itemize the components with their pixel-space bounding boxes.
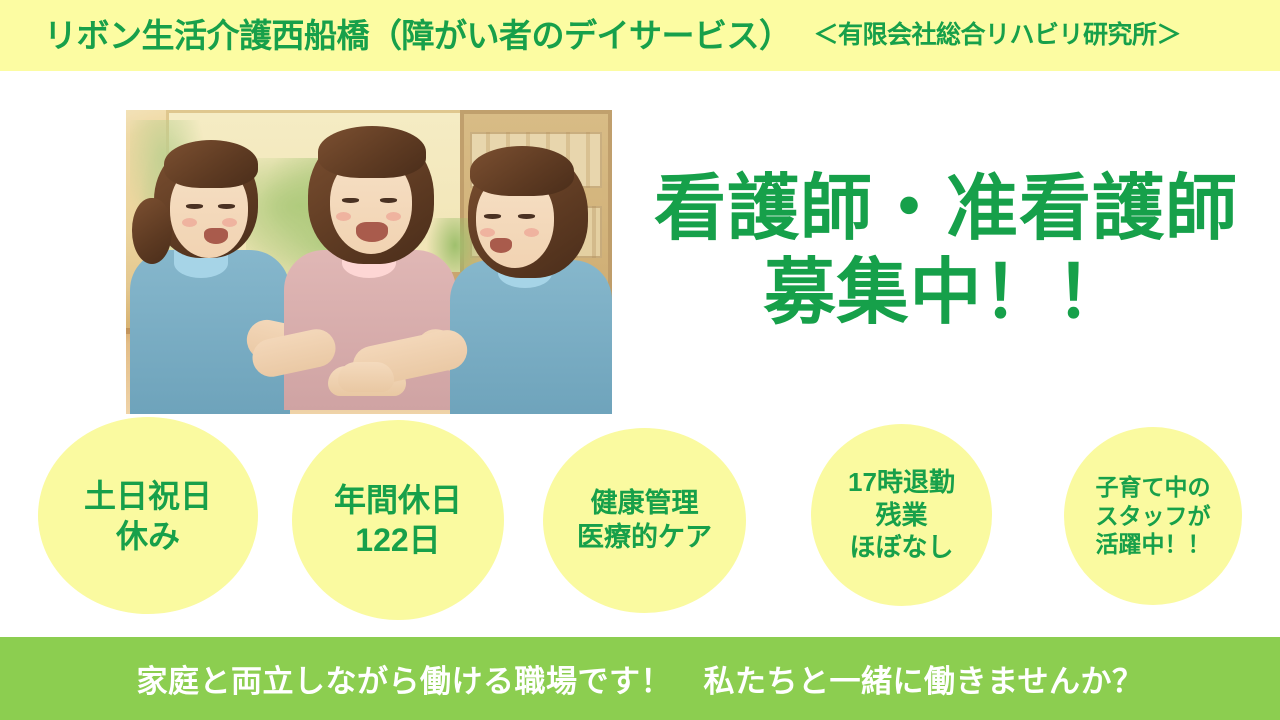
staff-right: [446, 140, 612, 414]
staff-center-cheek-right: [386, 212, 401, 221]
staff-right-hand: [338, 362, 394, 392]
badge-2-line-2: 122日: [334, 520, 462, 560]
badge-5-line-2: スタッフが: [1096, 502, 1211, 531]
badge-4-line-2: 残業: [848, 499, 955, 532]
benefit-badge-overtime[interactable]: 17時退勤 残業 ほぼなし: [811, 424, 992, 606]
staff-left-eye-right: [218, 204, 235, 209]
staff-right-cheek-right: [524, 228, 539, 237]
staff-center-eye-right: [380, 198, 397, 203]
staff-right-cheek-left: [480, 228, 495, 237]
staff-left-mouth: [204, 228, 228, 244]
staff-left-cheek-right: [222, 218, 237, 227]
organization-name: リボン生活介護西船橋（障がい者のデイサービス）: [44, 19, 792, 52]
badge-3-line-2: 医療的ケア: [577, 521, 712, 555]
staff-right-eye-left: [484, 214, 501, 219]
staff-left-ponytail: [132, 198, 172, 264]
badge-1-line-1: 土日祝日: [84, 476, 212, 516]
headline-line-1: 看護師・准看護師: [654, 169, 1238, 249]
header-band: リボン生活介護西船橋（障がい者のデイサービス） ＜有限会社総合リハビリ研究所＞: [0, 0, 1280, 71]
page-title: 看護師・准看護師 募集中！！: [630, 168, 1262, 335]
footer-band: 家庭と両立しながら働ける職場です！ 私たちと一緒に働きませんか？: [0, 637, 1280, 720]
benefit-badge-childcare[interactable]: 子育て中の スタッフが 活躍中！！: [1064, 427, 1242, 605]
staff-photo: [126, 110, 612, 414]
badge-4-line-3: ほぼなし: [848, 531, 955, 564]
headline-line-2: 募集中！！: [630, 252, 1262, 336]
staff-right-fringe: [470, 146, 574, 196]
staff-left-cheek-left: [182, 218, 197, 227]
benefit-badge-health-care[interactable]: 健康管理 医療的ケア: [543, 428, 746, 613]
staff-center-fringe: [318, 126, 426, 178]
badge-5-line-1: 子育て中の: [1096, 473, 1211, 502]
benefit-badge-weekend-holiday[interactable]: 土日祝日 休み: [38, 417, 258, 614]
staff-right-mouth: [490, 238, 512, 253]
staff-illustration: [126, 110, 612, 414]
staff-center-cheek-left: [336, 212, 351, 221]
badge-5-line-3: 活躍中！！: [1096, 530, 1211, 559]
badge-1-line-2: 休み: [84, 516, 212, 556]
badge-2-line-1: 年間休日: [334, 480, 462, 520]
staff-right-eye-right: [518, 214, 535, 219]
staff-left-fringe: [164, 140, 258, 188]
staff-left-eye-left: [186, 204, 203, 209]
company-name: ＜有限会社総合リハビリ研究所＞: [814, 23, 1182, 48]
staff-center-mouth: [356, 222, 388, 242]
footer-message: 家庭と両立しながら働ける職場です！ 私たちと一緒に働きませんか？: [136, 656, 1143, 701]
staff-center-eye-left: [342, 198, 359, 203]
badge-3-line-1: 健康管理: [577, 487, 712, 521]
benefit-badge-annual-holidays[interactable]: 年間休日 122日: [292, 420, 504, 620]
badge-4-line-1: 17時退勤: [848, 466, 955, 499]
